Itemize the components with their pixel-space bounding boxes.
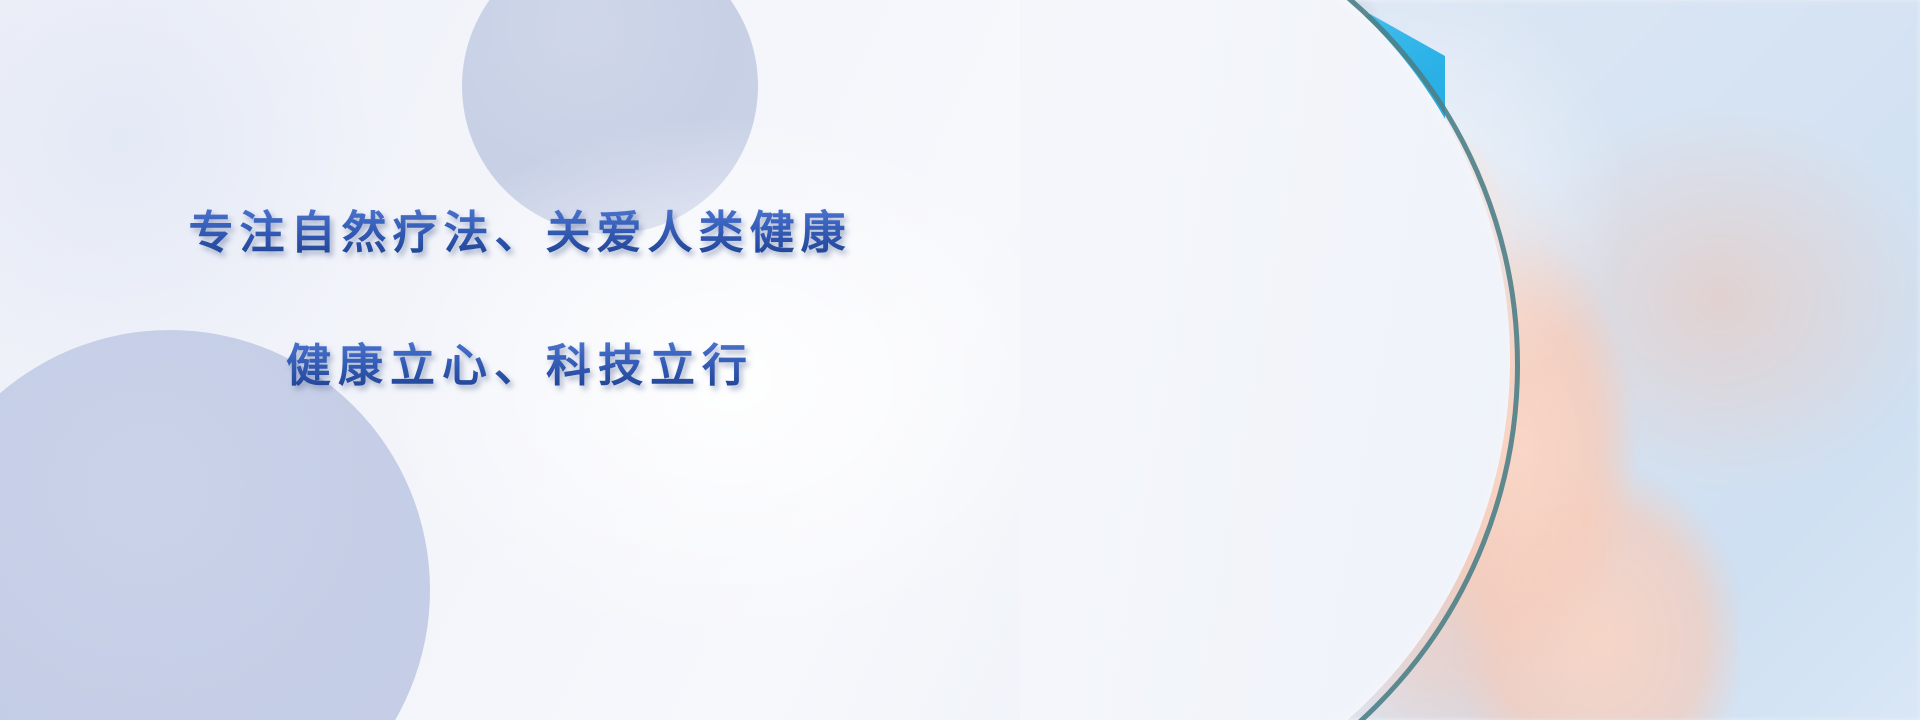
headline-block: 专注自然疗法、关爱人类健康 健康立心、科技立行 (0, 196, 1040, 394)
hero-banner: 专注自然疗法、关爱人类健康 健康立心、科技立行 (0, 0, 1920, 720)
headline-line-1: 专注自然疗法、关爱人类健康 (0, 196, 1040, 261)
headline-line-2: 健康立心、科技立行 (0, 329, 1040, 394)
photo-panel (1020, 0, 1920, 720)
teal-arc (1020, 0, 1520, 720)
